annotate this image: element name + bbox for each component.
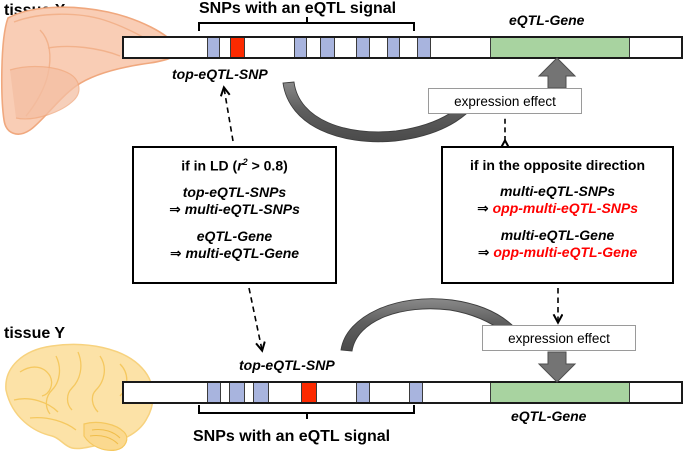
ld-rule-1-from: top-eQTL-SNPs [134,184,335,201]
expression-effect-box-top: expression effect [428,88,582,114]
opp-rule-2-from: multi-eQTL-Gene [443,227,672,244]
snp-block [356,38,370,57]
snp-block [207,383,221,402]
expression-effect-box-bottom: expression effect [482,325,636,351]
top-eqtl-snp-block [230,38,245,57]
snps-bracket-top [198,22,415,31]
snps-bracket-bottom [198,405,415,414]
if-opposite-direction-box: if in the opposite direction multi-eQTL-… [441,146,674,284]
ld-rule-1: top-eQTL-SNPs ⇒ multi-eQTL-SNPs [134,184,335,218]
opp-rule-1: multi-eQTL-SNPs ⇒ opp-multi-eQTL-SNPs [443,183,672,217]
snp-block [253,383,269,402]
ld-rule-2: eQTL-Gene ⇒ multi-eQTL-Gene [134,228,335,262]
snps-bracket-label-top: SNPs with an eQTL signal [199,0,396,18]
bracket-tick [306,412,308,419]
snp-block [356,383,370,402]
tissue-x-label: tissue X [4,2,65,20]
ld-rule-2-to: ⇒ multi-eQTL-Gene [134,245,335,262]
snp-block [387,38,400,57]
snp-block [207,38,220,57]
implies-arrow: ⇒ [478,244,490,260]
opp-rule-2: multi-eQTL-Gene ⇒ opp-multi-eQTL-Gene [443,227,672,261]
tissue-y-label: tissue Y [4,325,65,343]
snp-block [320,38,335,57]
implies-arrow: ⇒ [170,245,182,261]
dashed-connector-ldbox-to-topsnp-x [224,88,233,141]
if-in-ld-box: if in LD (r2 > 0.8) top-eQTL-SNPs ⇒ mult… [132,146,337,284]
dashed-connector-ldbox-to-topsnp-y [249,288,262,350]
snp-block [294,38,307,57]
ld-rule-1-to: ⇒ multi-eQTL-SNPs [134,201,335,218]
opp-box-header: if in the opposite direction [443,157,672,173]
ld-rule-2-from: eQTL-Gene [134,228,335,245]
implies-arrow: ⇒ [477,200,489,216]
expression-effect-up-arrow [539,58,575,88]
top-eqtl-snp-label-tissue-y: top-eQTL-SNP [239,357,335,373]
ld-box-header: if in LD (r2 > 0.8) [134,157,335,174]
opp-rule-1-from: multi-eQTL-SNPs [443,183,672,200]
eqtl-gene-label-tissue-y: eQTL-Gene [511,408,586,424]
implies-arrow: ⇒ [169,201,181,217]
opp-rule-1-to: ⇒ opp-multi-eQTL-SNPs [443,200,672,217]
top-eqtl-snp-label-tissue-x: top-eQTL-SNP [172,66,268,82]
snp-block [417,38,431,57]
bracket-tick [306,17,308,24]
eqtl-gene-block [490,38,630,57]
chromosome-track-tissue-y [122,381,683,404]
eqtl-gene-label-tissue-x: eQTL-Gene [509,12,584,28]
expression-effect-down-arrow [539,352,575,382]
chromosome-track-tissue-x [122,36,683,59]
snps-bracket-label-bottom: SNPs with an eQTL signal [193,428,390,446]
snp-block [409,383,423,402]
snp-block [229,383,245,402]
opp-rule-2-to: ⇒ opp-multi-eQTL-Gene [443,244,672,261]
eqtl-gene-block [490,383,630,402]
top-eqtl-snp-block [301,383,317,402]
